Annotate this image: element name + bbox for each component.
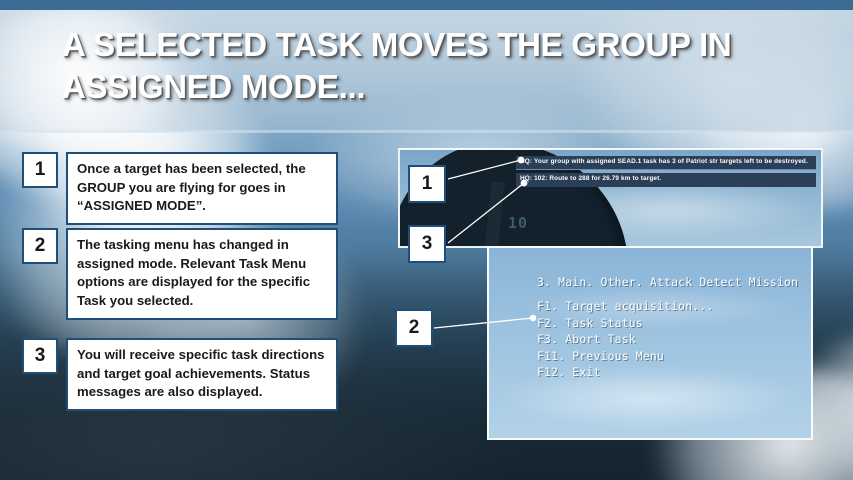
hq-message-stack: HQ: Your group with assigned SEAD.1 task… [516,156,816,187]
title-line-1: A SELECTED TASK MOVES THE GROUP IN [62,24,802,66]
marker-box-1: 1 [408,165,446,203]
task-menu-screenshot: 3. Main. Other. Attack Detect Mission F1… [487,246,813,440]
hq-message-2: HQ: 102: Route to 288 for 26.79 km to ta… [516,173,816,186]
task-menu-item-f1[interactable]: F1. Target acquisition... [537,298,802,314]
callout-number-2: 2 [22,228,58,264]
callout-text-3: You will receive specific task direction… [66,338,338,411]
title-band-divider [0,130,853,133]
callout-3: 3 You will receive specific task directi… [22,338,338,411]
cockpit-gauge-label: 10 [508,214,528,232]
top-accent-bar [0,0,853,10]
callout-1: 1 Once a target has been selected, the G… [22,152,338,225]
task-menu-item-f12[interactable]: F12. Exit [537,364,802,380]
task-menu-title: 3. Main. Other. Attack Detect Mission [537,274,802,290]
callout-text-2: The tasking menu has changed in assigned… [66,228,338,320]
title-line-2: ASSIGNED MODE... [62,66,802,108]
slide-canvas: A SELECTED TASK MOVES THE GROUP IN ASSIG… [0,0,853,480]
callout-text-1: Once a target has been selected, the GRO… [66,152,338,225]
task-menu-text: 3. Main. Other. Attack Detect Mission F1… [537,274,802,381]
task-menu-item-f11[interactable]: F11. Previous Menu [537,348,802,364]
task-menu-item-f2[interactable]: F2. Task Status [537,315,802,331]
callout-number-1: 1 [22,152,58,188]
page-title: A SELECTED TASK MOVES THE GROUP IN ASSIG… [62,24,802,108]
marker-box-2: 2 [395,309,433,347]
callout-number-3: 3 [22,338,58,374]
marker-box-3: 3 [408,225,446,263]
game-screenshot-hud: 10 HQ: Your group with assigned SEAD.1 t… [398,148,823,248]
task-menu-item-f3[interactable]: F3. Abort Task [537,331,802,347]
callout-2: 2 The tasking menu has changed in assign… [22,228,338,320]
hq-message-1: HQ: Your group with assigned SEAD.1 task… [516,156,816,170]
